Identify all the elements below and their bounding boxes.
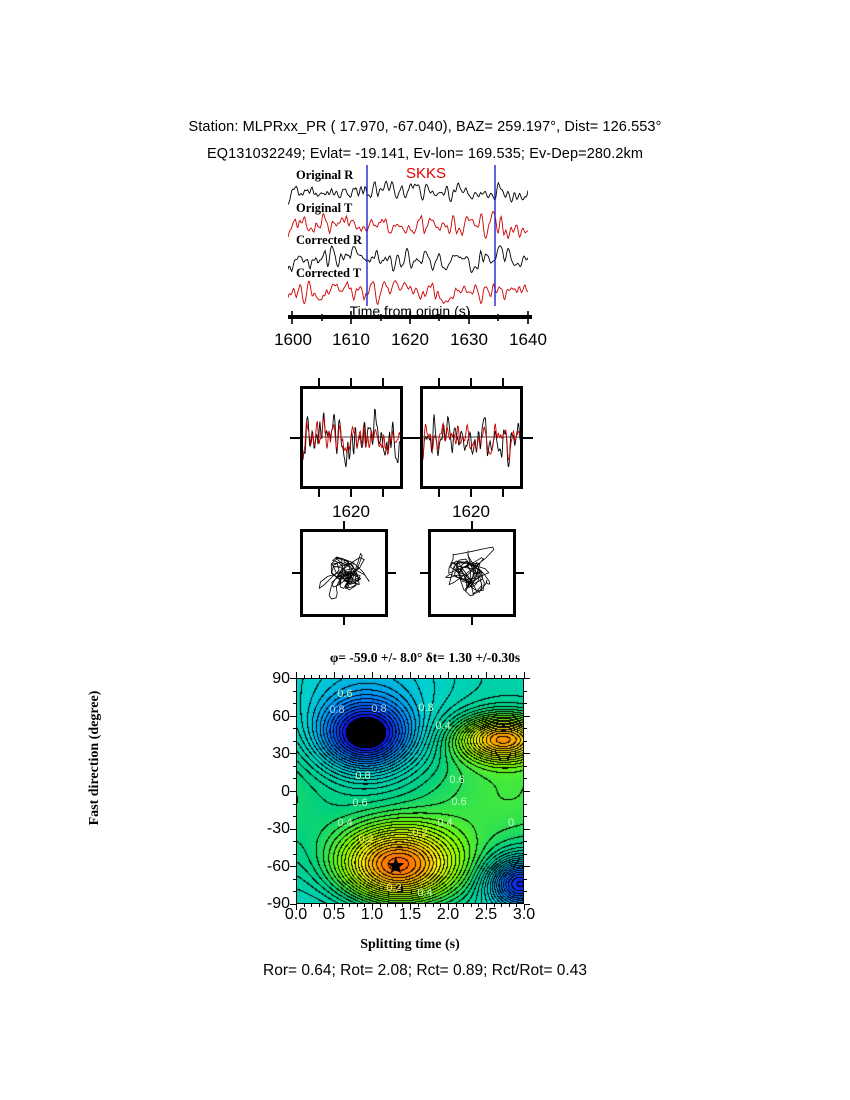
contour-x-tick bbox=[471, 675, 472, 678]
y-tick-0: 0 bbox=[244, 783, 290, 801]
contour-y-tick bbox=[293, 691, 296, 692]
y-axis-label: Fast direction (degree) bbox=[87, 658, 103, 858]
contour-x-tick bbox=[456, 904, 457, 907]
contour-x-tick bbox=[440, 904, 441, 907]
contour-x-tick bbox=[433, 904, 434, 907]
hodogram-tick-mark bbox=[471, 617, 473, 625]
contour-y-tick bbox=[293, 778, 296, 779]
overlay-tick-mark bbox=[502, 378, 504, 386]
overlay-tick-mark bbox=[318, 378, 320, 386]
overlay-tick-mark bbox=[438, 489, 440, 497]
overlay-tick-label-uncorrected: 1620 bbox=[291, 502, 411, 522]
particle-motion-curve-uncorrected bbox=[303, 532, 385, 614]
time-tick-1610: 1610 bbox=[328, 330, 374, 350]
contour-x-tick bbox=[364, 904, 365, 907]
overlay-tick-mark bbox=[523, 437, 533, 439]
contour-y-tick bbox=[524, 841, 527, 842]
contour-y-tick bbox=[524, 678, 530, 679]
contour-x-tick bbox=[395, 675, 396, 678]
y-tick-90: 90 bbox=[244, 670, 290, 688]
contour-y-tick bbox=[293, 804, 296, 805]
contour-x-tick bbox=[471, 904, 472, 907]
overlay-traces-uncorrected bbox=[303, 389, 400, 486]
overlay-tick-mark bbox=[318, 489, 320, 497]
overlay-tick-mark bbox=[382, 489, 384, 497]
quality-metrics-footer: Ror= 0.64; Rot= 2.08; Rct= 0.89; Rct/Rot… bbox=[0, 962, 850, 980]
contour-x-tick bbox=[509, 904, 510, 907]
station-info-line: Station: MLPRxx_PR ( 17.970, -67.040), B… bbox=[0, 119, 850, 135]
hodogram-tick-mark bbox=[343, 617, 345, 625]
x-axis-label: Splitting time (s) bbox=[296, 937, 524, 953]
y-axis-ticks: 90 60 30 0 -30 -60 -90 bbox=[234, 670, 290, 916]
contour-y-tick bbox=[524, 703, 527, 704]
time-tick-1630: 1630 bbox=[446, 330, 492, 350]
time-tick-1620: 1620 bbox=[387, 330, 433, 350]
contour-x-tick bbox=[326, 904, 327, 907]
contour-x-tick bbox=[486, 672, 487, 678]
overlay-tick-mark bbox=[502, 489, 504, 497]
contour-x-tick bbox=[334, 904, 335, 910]
contour-x-tick bbox=[319, 675, 320, 678]
contour-x-tick bbox=[349, 904, 350, 907]
contour-x-tick bbox=[380, 904, 381, 907]
contour-y-tick bbox=[290, 904, 296, 905]
hodogram-tick-mark bbox=[471, 521, 473, 529]
contour-x-tick bbox=[448, 672, 449, 678]
contour-x-tick bbox=[494, 904, 495, 907]
particle-motion-panel-corrected bbox=[428, 529, 516, 617]
contour-y-tick bbox=[293, 891, 296, 892]
contour-x-tick bbox=[456, 675, 457, 678]
contour-x-tick bbox=[463, 904, 464, 907]
contour-x-tick bbox=[516, 675, 517, 678]
contour-y-tick bbox=[524, 816, 527, 817]
contour-y-tick bbox=[290, 678, 296, 679]
contour-y-tick bbox=[524, 753, 530, 754]
contour-x-tick bbox=[304, 675, 305, 678]
contour-y-tick bbox=[524, 691, 527, 692]
contour-y-tick bbox=[293, 841, 296, 842]
contour-y-tick bbox=[524, 891, 527, 892]
contour-y-tick bbox=[524, 766, 527, 767]
time-axis-label: Time from origin (s) bbox=[286, 303, 534, 319]
contour-y-tick bbox=[290, 829, 296, 830]
contour-y-tick bbox=[524, 716, 530, 717]
contour-x-tick bbox=[357, 675, 358, 678]
contour-x-tick bbox=[296, 672, 297, 678]
y-tick-30: 30 bbox=[244, 745, 290, 763]
contour-x-tick bbox=[395, 904, 396, 907]
time-tick-1600: 1600 bbox=[270, 330, 316, 350]
particle-motion-curve-corrected bbox=[431, 532, 513, 614]
trace-label-original-r: Original R bbox=[296, 168, 353, 183]
overlay-tick-mark bbox=[350, 489, 352, 497]
contour-y-tick bbox=[293, 741, 296, 742]
contour-x-tick bbox=[433, 675, 434, 678]
contour-x-tick bbox=[501, 904, 502, 907]
contour-x-tick bbox=[425, 675, 426, 678]
contour-y-tick bbox=[293, 728, 296, 729]
contour-x-tick bbox=[478, 904, 479, 907]
contour-x-tick bbox=[463, 675, 464, 678]
contour-x-tick bbox=[304, 904, 305, 907]
contour-x-tick bbox=[342, 904, 343, 907]
time-axis-ticks: 1600 1610 1620 1630 1640 bbox=[270, 330, 550, 354]
overlay-panel-uncorrected bbox=[300, 386, 403, 489]
contour-y-tick bbox=[290, 866, 296, 867]
contour-x-tick bbox=[372, 672, 373, 678]
contour-y-tick bbox=[293, 766, 296, 767]
hodogram-tick-mark bbox=[343, 521, 345, 529]
contour-x-tick bbox=[410, 672, 411, 678]
contour-y-tick bbox=[290, 716, 296, 717]
hodogram-tick-mark bbox=[292, 572, 300, 574]
splitting-parameters-title: φ= -59.0 +/- 8.0° δt= 1.30 +/-0.30s bbox=[200, 650, 650, 666]
contour-x-tick bbox=[478, 675, 479, 678]
contour-x-tick bbox=[387, 904, 388, 907]
star-marker bbox=[387, 857, 404, 873]
contour-x-tick bbox=[486, 904, 487, 910]
contour-y-tick bbox=[524, 904, 530, 905]
contour-y-tick bbox=[290, 753, 296, 754]
overlay-tick-mark bbox=[470, 378, 472, 386]
time-tick-1640: 1640 bbox=[505, 330, 551, 350]
trace-label-original-t: Original T bbox=[296, 201, 352, 216]
contour-x-tick bbox=[319, 904, 320, 907]
contour-x-tick bbox=[357, 904, 358, 907]
overlay-panel-corrected bbox=[420, 386, 523, 489]
contour-y-tick bbox=[524, 778, 527, 779]
contour-x-tick bbox=[494, 675, 495, 678]
y-tick-neg60: -60 bbox=[244, 858, 290, 876]
contour-x-tick bbox=[387, 675, 388, 678]
figure-page: Station: MLPRxx_PR ( 17.970, -67.040), B… bbox=[0, 0, 850, 1100]
contour-y-tick bbox=[293, 703, 296, 704]
contour-y-tick bbox=[524, 866, 530, 867]
contour-x-tick bbox=[501, 675, 502, 678]
hodogram-tick-mark bbox=[420, 572, 428, 574]
contour-x-tick bbox=[425, 904, 426, 907]
contour-x-tick bbox=[410, 904, 411, 910]
contour-y-tick bbox=[524, 741, 527, 742]
contour-y-tick bbox=[293, 816, 296, 817]
contour-x-tick bbox=[402, 904, 403, 907]
trace-label-corrected-r: Corrected R bbox=[296, 233, 362, 248]
best-solution-star bbox=[297, 679, 524, 904]
contour-x-tick bbox=[418, 904, 419, 907]
overlay-tick-mark bbox=[438, 378, 440, 386]
overlay-tick-mark bbox=[350, 378, 352, 386]
contour-x-tick bbox=[311, 675, 312, 678]
contour-y-tick bbox=[293, 879, 296, 880]
contour-x-tick bbox=[418, 675, 419, 678]
overlay-tick-mark bbox=[470, 489, 472, 497]
contour-x-tick bbox=[516, 904, 517, 907]
phase-label-skks: SKKS bbox=[406, 165, 446, 182]
contour-x-tick bbox=[349, 675, 350, 678]
contour-x-tick bbox=[296, 904, 297, 910]
contour-y-tick bbox=[293, 854, 296, 855]
contour-y-tick bbox=[524, 728, 527, 729]
event-info-line: EQ131032249; Evlat= -19.141, Ev-lon= 169… bbox=[0, 146, 850, 162]
contour-x-tick bbox=[326, 675, 327, 678]
contour-x-tick bbox=[364, 675, 365, 678]
overlay-tick-label-corrected: 1620 bbox=[411, 502, 531, 522]
contour-x-tick bbox=[402, 675, 403, 678]
contour-x-tick bbox=[334, 672, 335, 678]
contour-x-tick bbox=[509, 675, 510, 678]
contour-x-tick bbox=[448, 904, 449, 910]
y-tick-neg30: -30 bbox=[244, 820, 290, 838]
overlay-tick-mark bbox=[410, 437, 420, 439]
hodogram-tick-mark bbox=[516, 572, 524, 574]
trace-label-corrected-t: Corrected T bbox=[296, 266, 361, 281]
contour-y-tick bbox=[524, 879, 527, 880]
y-tick-60: 60 bbox=[244, 708, 290, 726]
contour-x-tick bbox=[380, 675, 381, 678]
contour-y-tick bbox=[290, 791, 296, 792]
contour-x-tick bbox=[372, 904, 373, 910]
overlay-tick-mark bbox=[290, 437, 300, 439]
overlay-tick-mark bbox=[382, 378, 384, 386]
contour-x-tick bbox=[342, 675, 343, 678]
particle-motion-panel-uncorrected bbox=[300, 529, 388, 617]
hodogram-tick-mark bbox=[388, 572, 396, 574]
contour-y-tick bbox=[524, 829, 530, 830]
contour-y-tick bbox=[524, 791, 530, 792]
contour-y-tick bbox=[524, 804, 527, 805]
contour-y-tick bbox=[524, 854, 527, 855]
overlay-traces-corrected bbox=[423, 389, 520, 486]
error-surface-contour-plot: 0.60.80.80.80.40.80.60.60.60.40.20.20.40… bbox=[296, 678, 524, 904]
contour-x-tick bbox=[440, 675, 441, 678]
contour-x-tick bbox=[311, 904, 312, 907]
